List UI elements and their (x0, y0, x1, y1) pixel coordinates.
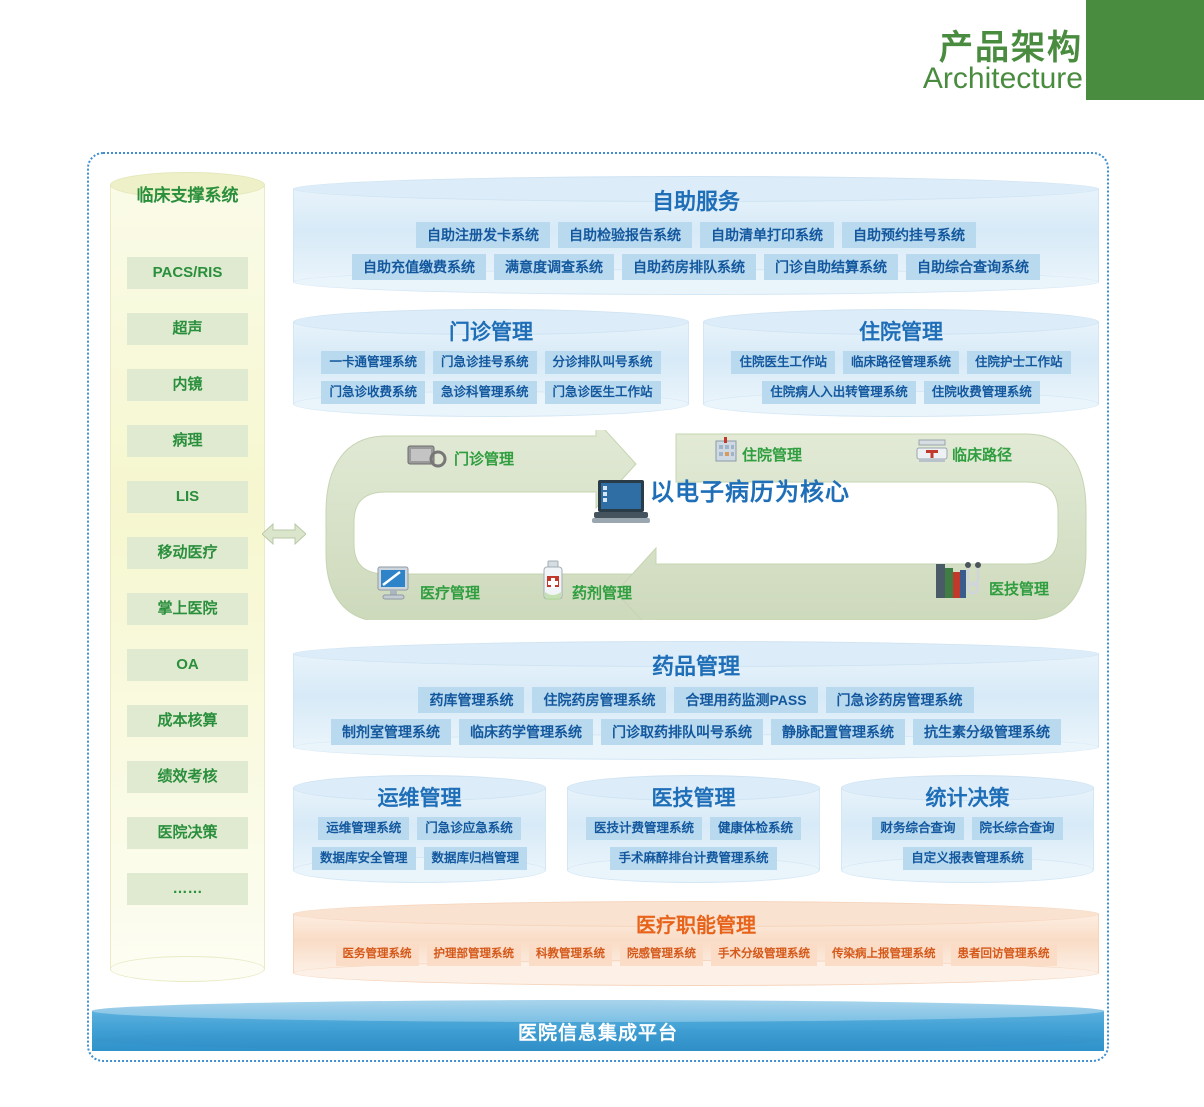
self-service-row-2: 自助充值缴费系统 满意度调查系统 自助药房排队系统 门诊自助结算系统 自助综合查… (293, 254, 1099, 280)
chip-patient-followup[interactable]: 患者回访管理系统 (951, 944, 1057, 966)
chip-self-register-card[interactable]: 自助注册发卡系统 (416, 222, 550, 248)
page-title-en: Architecture (923, 62, 1083, 96)
sidebar-item-hospital-decision[interactable]: 医院决策 (127, 817, 248, 849)
sidebar-item-performance[interactable]: 绩效考核 (127, 761, 248, 793)
inpatient-title: 住院管理 (703, 316, 1099, 346)
cycle-label-outpatient: 门诊管理 (454, 448, 514, 469)
outpatient-row-2: 门急诊收费系统 急诊科管理系统 门急诊医生工作站 (293, 381, 689, 404)
stethoscope-folder-icon (406, 440, 448, 470)
chip-satisfaction-survey[interactable]: 满意度调查系统 (494, 254, 614, 280)
stats-row-1: 财务综合查询 院长综合查询 (841, 817, 1094, 840)
panel-outpatient-management: 门诊管理 一卡通管理系统 门急诊挂号系统 分诊排队叫号系统 门急诊收费系统 急诊… (293, 309, 689, 417)
self-service-title: 自助服务 (293, 184, 1099, 216)
chip-inpatient-billing[interactable]: 住院收费管理系统 (924, 381, 1040, 404)
chip-health-checkup[interactable]: 健康体检系统 (710, 817, 801, 840)
monitor-icon (374, 565, 414, 603)
func-row-1: 医务管理系统 护理部管理系统 科教管理系统 院感管理系统 手术分级管理系统 传染… (293, 944, 1099, 966)
chip-nursing-dept[interactable]: 护理部管理系统 (427, 944, 522, 966)
chip-card-management[interactable]: 一卡通管理系统 (321, 351, 425, 374)
chip-db-security[interactable]: 数据库安全管理 (312, 847, 416, 870)
cycle-label-pharmacy-mgmt: 药剂管理 (572, 582, 632, 603)
sidebar-item-pathology[interactable]: 病理 (127, 425, 248, 457)
chip-dispensing-queue[interactable]: 门诊取药排队叫号系统 (601, 719, 763, 745)
sidebar-item-mobile-medical[interactable]: 移动医疗 (127, 537, 248, 569)
chip-infectious-disease-report[interactable]: 传染病上报管理系统 (825, 944, 943, 966)
sidebar-clinical-support: 临床支撑系统 PACS/RIS 超声 内镜 病理 LIS 移动医疗 掌上医院 O… (110, 172, 265, 982)
bidirectional-arrow-icon (262, 519, 306, 549)
sidebar-item-list: PACS/RIS 超声 内镜 病理 LIS 移动医疗 掌上医院 OA 成本核算 … (127, 257, 248, 929)
chip-rational-drug-pass[interactable]: 合理用药监测PASS (674, 687, 817, 713)
chip-clinical-pathway[interactable]: 临床路径管理系统 (843, 351, 959, 374)
cycle-label-medical-mgmt: 医疗管理 (420, 582, 480, 603)
sidebar-item-ultrasound[interactable]: 超声 (127, 313, 248, 345)
chip-self-appointment[interactable]: 自助预约挂号系统 (842, 222, 976, 248)
chip-clinical-pharmacy[interactable]: 临床药学管理系统 (459, 719, 593, 745)
chip-registration[interactable]: 门急诊挂号系统 (433, 351, 537, 374)
chip-finance-query[interactable]: 财务综合查询 (872, 817, 963, 840)
cycle-label-clinical-pathway: 临床路径 (952, 444, 1012, 465)
medtech-title: 医技管理 (567, 782, 820, 812)
chip-education-research[interactable]: 科教管理系统 (529, 944, 612, 966)
chip-inpatient-nurse-station[interactable]: 住院护士工作站 (967, 351, 1071, 374)
chip-self-bill-print[interactable]: 自助清单打印系统 (700, 222, 834, 248)
self-service-row-1: 自助注册发卡系统 自助检验报告系统 自助清单打印系统 自助预约挂号系统 (293, 222, 1099, 248)
integration-platform: 医院信息集成平台 (92, 1000, 1104, 1062)
chip-self-pharmacy-queue[interactable]: 自助药房排队系统 (622, 254, 756, 280)
sidebar-item-lis[interactable]: LIS (127, 481, 248, 513)
sidebar-item-pacs-ris[interactable]: PACS/RIS (127, 257, 248, 289)
panel-medtech-management: 医技管理 医技计费管理系统 健康体检系统 手术麻醉排台计费管理系统 (567, 775, 820, 883)
chip-drug-warehouse[interactable]: 药库管理系统 (418, 687, 524, 713)
chip-inpatient-pharmacy[interactable]: 住院药房管理系统 (532, 687, 666, 713)
chip-self-lab-report[interactable]: 自助检验报告系统 (558, 222, 692, 248)
drug-row-1: 药库管理系统 住院药房管理系统 合理用药监测PASS 门急诊药房管理系统 (293, 687, 1099, 713)
panel-inpatient-management: 住院管理 住院医生工作站 临床路径管理系统 住院护士工作站 住院病人入出转管理系… (703, 309, 1099, 417)
chip-surgery-grading[interactable]: 手术分级管理系统 (711, 944, 817, 966)
ops-title: 运维管理 (293, 782, 546, 812)
func-title: 医疗职能管理 (293, 909, 1099, 938)
hospital-building-icon (713, 437, 739, 463)
sidebar-item-cost-accounting[interactable]: 成本核算 (127, 705, 248, 737)
chip-db-archive[interactable]: 数据库归档管理 (424, 847, 528, 870)
chip-custom-report[interactable]: 自定义报表管理系统 (903, 847, 1032, 870)
panel-drug-management: 药品管理 药库管理系统 住院药房管理系统 合理用药监测PASS 门急诊药房管理系… (293, 641, 1099, 760)
sidebar-item-more[interactable]: …… (127, 873, 248, 905)
cycle-label-inpatient: 住院管理 (742, 444, 802, 465)
inpatient-row-1: 住院医生工作站 临床路径管理系统 住院护士工作站 (703, 351, 1099, 374)
chip-self-recharge[interactable]: 自助充值缴费系统 (352, 254, 486, 280)
chip-anesthesia-scheduling[interactable]: 手术麻醉排台计费管理系统 (610, 847, 776, 870)
ehr-core-cycle: 门诊管理 住院管理 临床路径 医技管理 医疗管理 (320, 430, 1100, 620)
chip-emergency-dept[interactable]: 急诊科管理系统 (433, 381, 537, 404)
panel-operations-management: 运维管理 运维管理系统 门急诊应急系统 数据库安全管理 数据库归档管理 (293, 775, 546, 883)
sidebar-title: 临床支撑系统 (110, 181, 265, 206)
sidebar-item-palm-hospital[interactable]: 掌上医院 (127, 593, 248, 625)
cycle-core-label: 以电子病历为核心 (650, 472, 850, 507)
panel-medical-functional-management: 医疗职能管理 医务管理系统 护理部管理系统 科教管理系统 院感管理系统 手术分级… (293, 901, 1099, 986)
medicine-bottle-icon (540, 560, 566, 602)
chip-ops-system[interactable]: 运维管理系统 (318, 817, 409, 840)
books-stethoscope-icon (934, 560, 984, 602)
chip-inpatient-doctor-station[interactable]: 住院医生工作站 (731, 351, 835, 374)
chip-emergency-response[interactable]: 门急诊应急系统 (417, 817, 521, 840)
chip-outpatient-doctor-station[interactable]: 门急诊医生工作站 (545, 381, 661, 404)
laptop-icon (592, 478, 650, 530)
medtech-row-2: 手术麻醉排台计费管理系统 (567, 847, 820, 870)
chip-iv-compounding[interactable]: 静脉配置管理系统 (771, 719, 905, 745)
chip-outpatient-billing[interactable]: 门急诊收费系统 (321, 381, 425, 404)
panel-statistics-decision: 统计决策 财务综合查询 院长综合查询 自定义报表管理系统 (841, 775, 1094, 883)
outpatient-row-1: 一卡通管理系统 门急诊挂号系统 分诊排队叫号系统 (293, 351, 689, 374)
chip-triage-queue[interactable]: 分诊排队叫号系统 (545, 351, 661, 374)
outpatient-title: 门诊管理 (293, 316, 689, 346)
chip-admission-transfer[interactable]: 住院病人入出转管理系统 (762, 381, 916, 404)
chip-self-comprehensive-query[interactable]: 自助综合查询系统 (906, 254, 1040, 280)
drug-title: 药品管理 (293, 649, 1099, 681)
sidebar-item-endoscopy[interactable]: 内镜 (127, 369, 248, 401)
ops-row-2: 数据库安全管理 数据库归档管理 (293, 847, 546, 870)
chip-outpatient-self-settle[interactable]: 门诊自助结算系统 (764, 254, 898, 280)
panel-self-service: 自助服务 自助注册发卡系统 自助检验报告系统 自助清单打印系统 自助预约挂号系统… (293, 176, 1099, 295)
chip-antibiotic-grading[interactable]: 抗生素分级管理系统 (913, 719, 1061, 745)
sidebar-bottom-ellipse (110, 956, 265, 982)
medical-device-icon (915, 438, 949, 464)
ops-row-1: 运维管理系统 门急诊应急系统 (293, 817, 546, 840)
chip-director-query[interactable]: 院长综合查询 (972, 817, 1063, 840)
chip-preparation-room[interactable]: 制剂室管理系统 (331, 719, 451, 745)
cycle-label-medtech: 医技管理 (989, 578, 1049, 599)
medtech-row-1: 医技计费管理系统 健康体检系统 (567, 817, 820, 840)
stats-title: 统计决策 (841, 782, 1094, 812)
chip-infection-control[interactable]: 院感管理系统 (620, 944, 703, 966)
chip-outpatient-pharmacy[interactable]: 门急诊药房管理系统 (826, 687, 974, 713)
sidebar-item-oa[interactable]: OA (127, 649, 248, 681)
chip-medical-affairs[interactable]: 医务管理系统 (336, 944, 419, 966)
chip-medtech-billing[interactable]: 医技计费管理系统 (586, 817, 702, 840)
drug-row-2: 制剂室管理系统 临床药学管理系统 门诊取药排队叫号系统 静脉配置管理系统 抗生素… (293, 719, 1099, 745)
platform-label: 医院信息集成平台 (92, 1018, 1104, 1045)
stats-row-2: 自定义报表管理系统 (841, 847, 1094, 870)
header-accent-block (1086, 0, 1204, 100)
inpatient-row-2: 住院病人入出转管理系统 住院收费管理系统 (703, 381, 1099, 404)
